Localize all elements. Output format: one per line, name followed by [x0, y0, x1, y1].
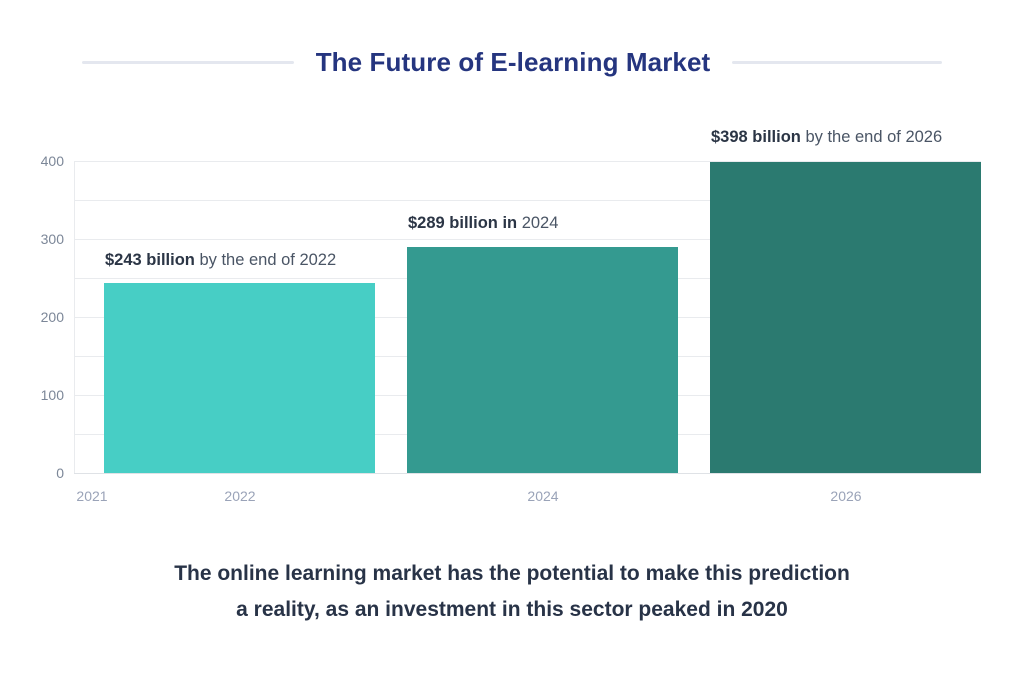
bar-2024[interactable] — [407, 247, 678, 473]
y-tick-300: 300 — [8, 231, 64, 247]
y-tick-0: 0 — [8, 465, 64, 481]
bar-2022[interactable] — [104, 283, 375, 473]
plot-area — [74, 161, 981, 473]
y-tick-200: 200 — [8, 309, 64, 325]
y-tick-400: 400 — [8, 153, 64, 169]
x-axis-line — [74, 473, 981, 474]
bar-annotation-2026: $398 billion by the end of 2026 — [711, 128, 942, 147]
chart-caption: The online learning market has the poten… — [0, 556, 1024, 628]
bar-annotation-2024-value: $289 billion in — [408, 214, 517, 232]
y-tick-100: 100 — [8, 387, 64, 403]
y-axis: 400 300 200 100 0 — [0, 0, 64, 520]
bar-annotation-2026-value: $398 billion — [711, 128, 801, 146]
x-tick-2024: 2024 — [527, 488, 558, 504]
x-tick-2021: 2021 — [76, 488, 107, 504]
bar-annotation-2024-text: 2024 — [517, 214, 558, 232]
bar-annotation-2022: $243 billion by the end of 2022 — [105, 251, 336, 270]
bar-annotation-2024: $289 billion in 2024 — [408, 214, 558, 233]
x-tick-2022: 2022 — [224, 488, 255, 504]
bar-chart: 400 300 200 100 0 $243 billion by the en… — [0, 0, 1024, 520]
bar-annotation-2022-value: $243 billion — [105, 251, 195, 269]
x-tick-2026: 2026 — [830, 488, 861, 504]
bar-annotation-2026-text: by the end of 2026 — [801, 128, 942, 146]
caption-line-2: a reality, as an investment in this sect… — [0, 592, 1024, 628]
caption-line-1: The online learning market has the poten… — [0, 556, 1024, 592]
bar-2026[interactable] — [710, 162, 981, 473]
bar-annotation-2022-text: by the end of 2022 — [195, 251, 336, 269]
